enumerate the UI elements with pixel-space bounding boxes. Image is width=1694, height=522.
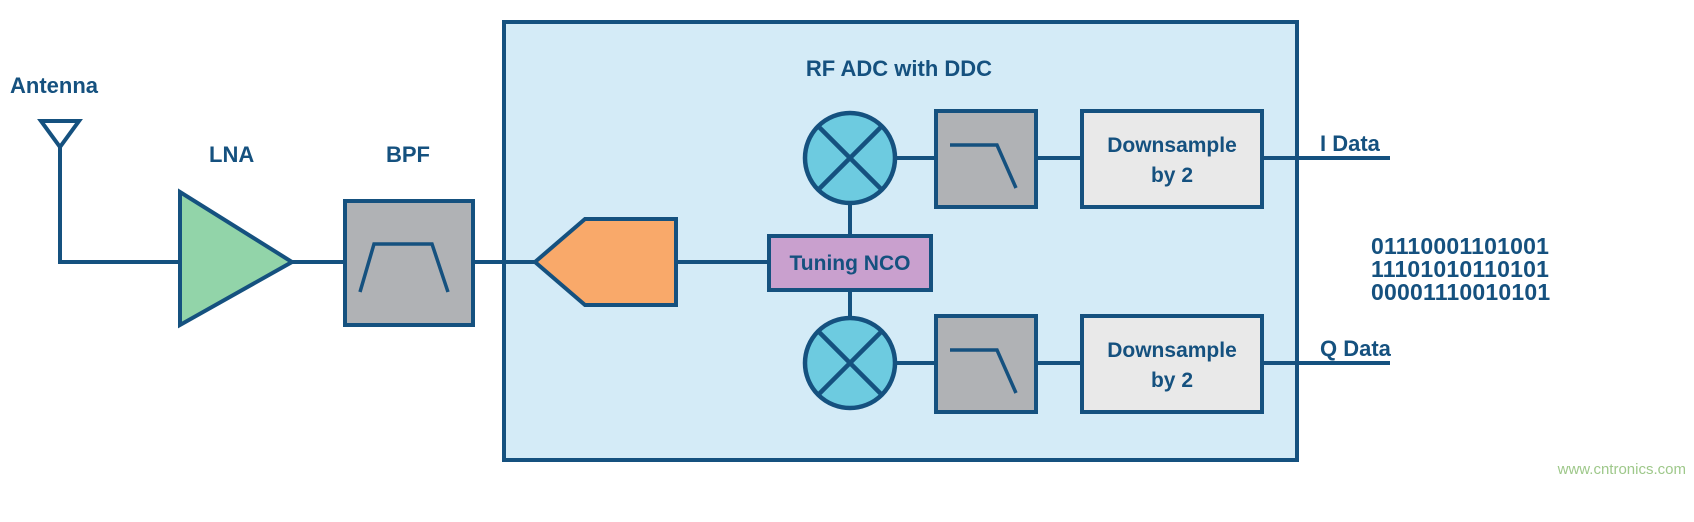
lpf-q-block (936, 316, 1036, 412)
rf-adc-ddc-title: RF ADC with DDC (806, 56, 992, 81)
bpf-label: BPF (386, 142, 430, 167)
rf-signal-chain-diagram: Antenna LNA BPF RF ADC with DDC Tuning N… (0, 0, 1694, 522)
i-data-label: I Data (1320, 131, 1381, 156)
antenna-symbol (41, 121, 79, 262)
downsample-i-label-line2: by 2 (1151, 164, 1193, 187)
downsample-q-label-line2: by 2 (1151, 369, 1193, 392)
bpf-filter-block (345, 201, 473, 325)
q-data-label: Q Data (1320, 336, 1392, 361)
mixer-i (805, 113, 895, 203)
tuning-nco-label: Tuning NCO (790, 252, 911, 275)
watermark-text: www.cntronics.com (1557, 461, 1686, 478)
mixer-q (805, 318, 895, 408)
bitstream-line-3: 00001110010101 (1371, 279, 1550, 305)
antenna-label: Antenna (10, 73, 99, 98)
lna-label: LNA (209, 142, 254, 167)
lpf-i-block (936, 111, 1036, 207)
lna-amplifier (180, 192, 292, 325)
downsample-i-block (1082, 111, 1262, 207)
downsample-q-label-line1: Downsample (1107, 339, 1237, 362)
downsample-i-label-line1: Downsample (1107, 134, 1237, 157)
diagram-canvas: Antenna LNA BPF RF ADC with DDC Tuning N… (0, 0, 1694, 522)
downsample-q-block (1082, 316, 1262, 412)
